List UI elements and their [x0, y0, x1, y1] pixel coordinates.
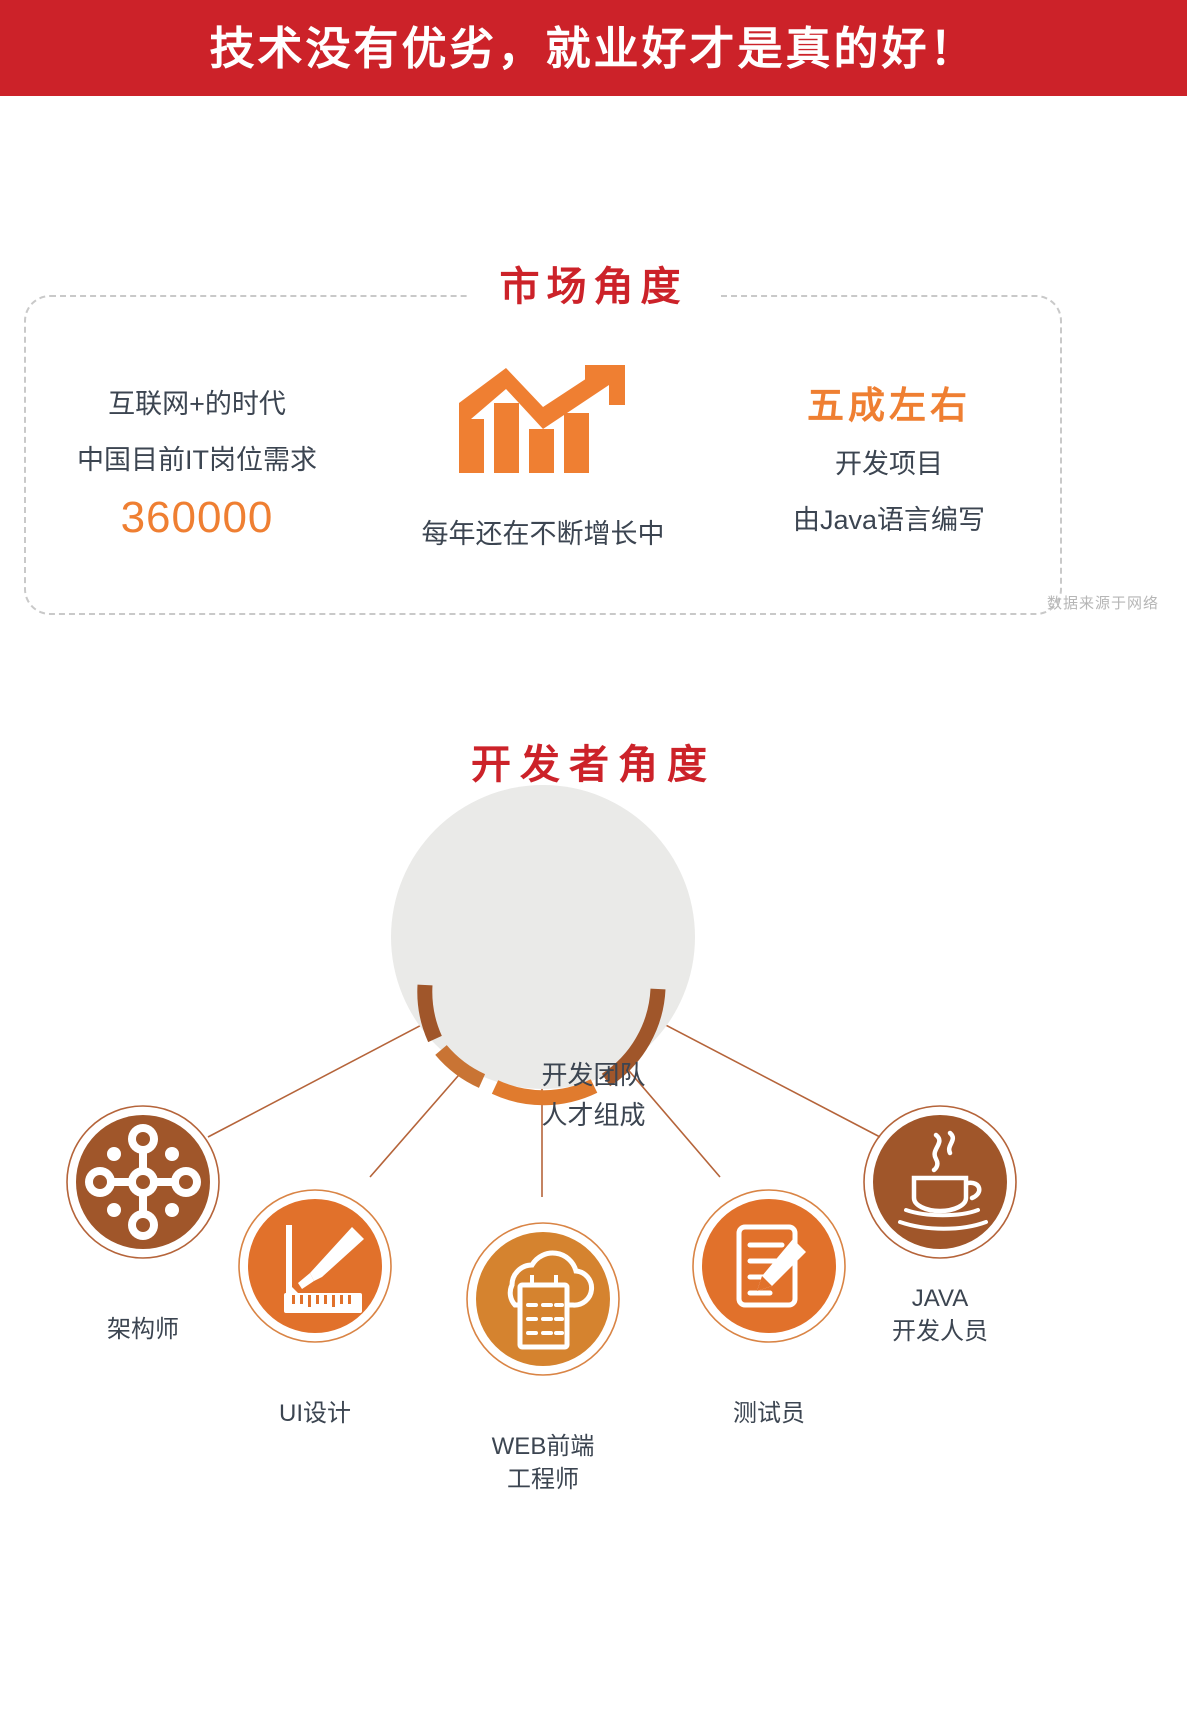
header-banner: 技术没有优劣，就业好才是真的好！ — [0, 0, 1187, 96]
jobs-line1: 互联网+的时代 — [24, 376, 370, 432]
java-share-big-value: 五成左右 — [716, 376, 1062, 436]
market-section: 市场角度 互联网+的时代 中国目前IT岗位需求 360000 — [0, 287, 1187, 627]
node-java-developer — [864, 1106, 1016, 1258]
market-column-growth: 每年还在不断增长中 — [370, 349, 716, 562]
connector-java — [635, 1009, 880, 1137]
data-source-note: 数据来源于网络 — [1047, 592, 1159, 613]
bar-chart-growth-icon — [370, 363, 716, 480]
node-web-frontend — [467, 1223, 619, 1375]
java-share-line2: 由Java语言编写 — [716, 492, 1062, 548]
node-ui-design — [239, 1190, 391, 1342]
market-columns: 互联网+的时代 中国目前IT岗位需求 360000 每年还在不断增长 — [24, 295, 1062, 615]
node-tester — [693, 1190, 845, 1342]
node-architect — [67, 1106, 219, 1258]
market-column-java-share: 五成左右 开发项目 由Java语言编写 — [716, 362, 1062, 548]
java-share-line1: 开发项目 — [716, 436, 1062, 492]
developer-section: 开发者角度 — [0, 737, 1187, 1617]
jobs-big-value: 360000 — [24, 488, 370, 548]
market-column-jobs: 互联网+的时代 中国目前IT岗位需求 360000 — [24, 362, 370, 548]
team-composition-diagram — [0, 737, 1187, 1617]
jobs-line2: 中国目前IT岗位需求 — [24, 432, 370, 488]
tester-circle — [702, 1199, 836, 1333]
growth-caption: 每年还在不断增长中 — [370, 506, 716, 562]
connector-architect — [208, 1009, 452, 1137]
banner-title: 技术没有优劣，就业好才是真的好！ — [209, 26, 977, 71]
